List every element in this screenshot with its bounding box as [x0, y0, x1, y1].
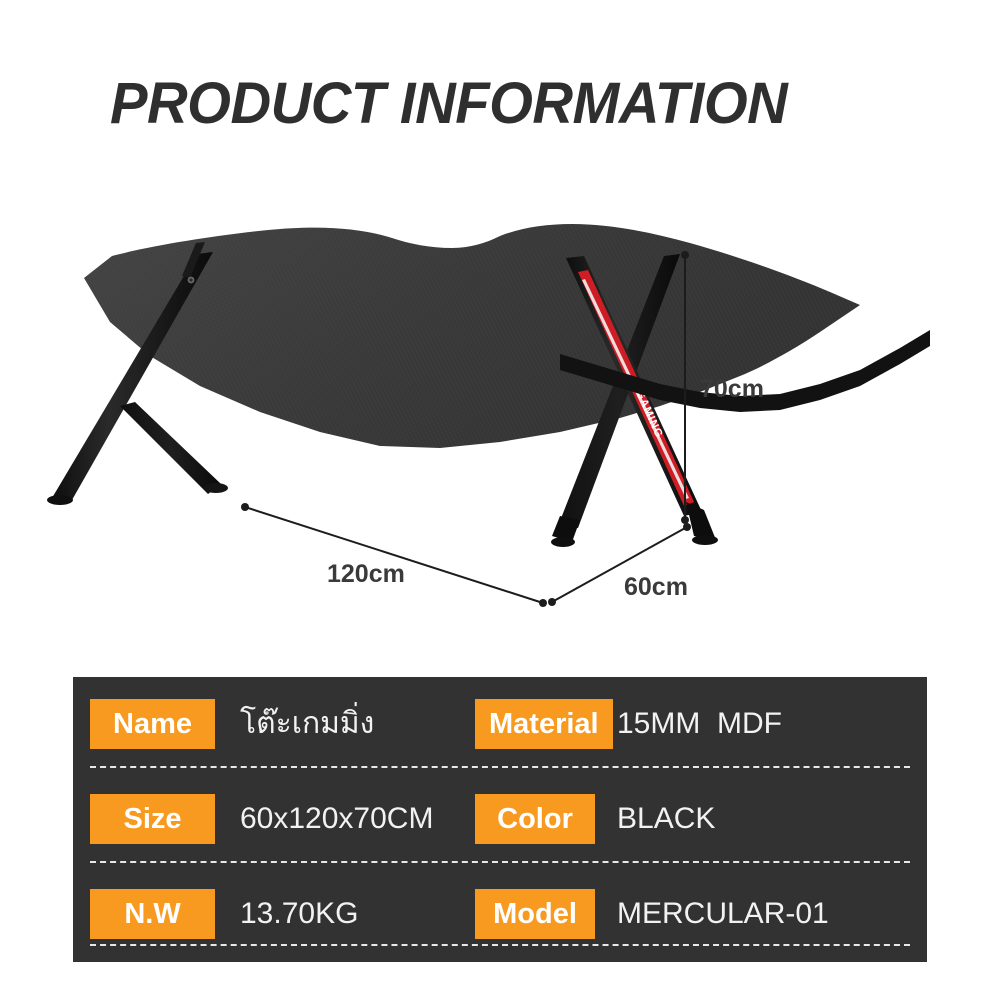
row-divider: [90, 944, 910, 946]
spec-label-model: Model: [475, 889, 595, 939]
spec-label-name: Name: [90, 699, 215, 749]
spec-value-material: 15MM MDF: [617, 699, 782, 749]
spec-label-color: Color: [475, 794, 595, 844]
spec-cell-size: Size 60x120x70CM: [90, 772, 475, 867]
spec-row-name-material: Name โต๊ะเกมมิ่ง Material 15MM MDF: [73, 677, 927, 772]
dimension-line-width: [241, 503, 547, 607]
product-information-page: PRODUCT INFORMATION: [0, 0, 1000, 1000]
spec-cell-color: Color BLACK: [475, 772, 915, 867]
gaming-desk-drawing: GAMING: [0, 180, 1000, 640]
specification-panel: Name โต๊ะเกมมิ่ง Material 15MM MDF Size …: [73, 677, 927, 962]
spec-cell-name: Name โต๊ะเกมมิ่ง: [90, 677, 475, 772]
dimension-label-width: 120cm: [327, 560, 405, 589]
dimension-label-height: 70cm: [700, 375, 764, 404]
spec-value-name: โต๊ะเกมมิ่ง: [240, 699, 374, 749]
spec-value-net-weight: 13.70KG: [240, 889, 358, 939]
dimension-label-depth: 60cm: [624, 573, 688, 602]
product-image: GAMING: [0, 180, 1000, 640]
spec-label-net-weight: N.W: [90, 889, 215, 939]
spec-label-material: Material: [475, 699, 613, 749]
page-title: PRODUCT INFORMATION: [110, 70, 886, 140]
row-divider: [90, 861, 910, 863]
row-divider: [90, 766, 910, 768]
spec-cell-model: Model MERCULAR-01: [475, 867, 915, 962]
spec-value-color: BLACK: [617, 794, 715, 844]
spec-value-model: MERCULAR-01: [617, 889, 829, 939]
spec-value-size: 60x120x70CM: [240, 794, 433, 844]
spec-row-weight-model: N.W 13.70KG Model MERCULAR-01: [73, 867, 927, 962]
spec-row-size-color: Size 60x120x70CM Color BLACK: [73, 772, 927, 867]
spec-cell-net-weight: N.W 13.70KG: [90, 867, 475, 962]
spec-cell-material: Material 15MM MDF: [475, 677, 915, 772]
desk-top-group: [82, 180, 1000, 448]
spec-label-size: Size: [90, 794, 215, 844]
